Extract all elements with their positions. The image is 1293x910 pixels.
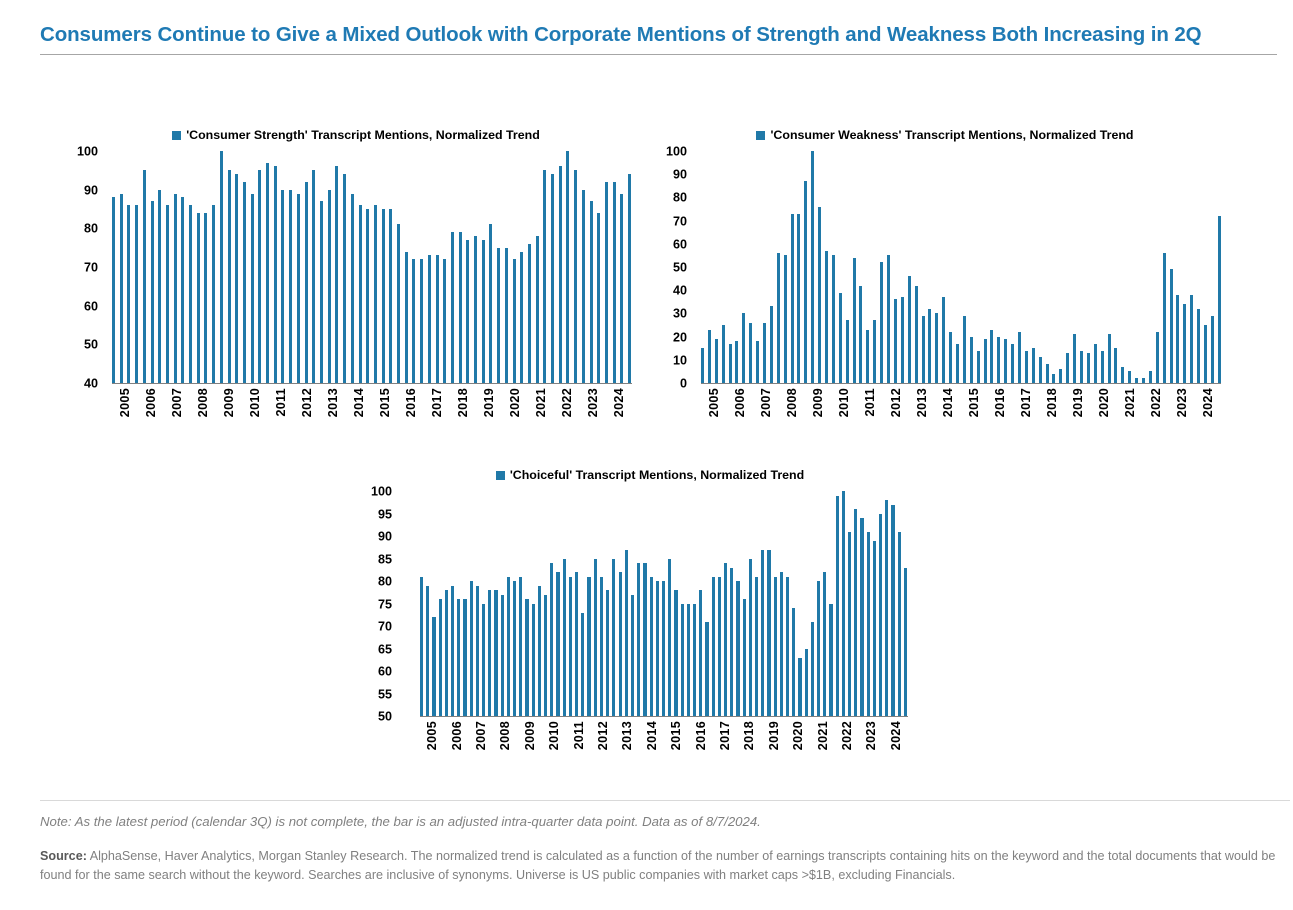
bar — [681, 604, 684, 717]
bar — [1190, 295, 1193, 383]
x-axis-label: 2022 — [1149, 388, 1163, 417]
bar-series — [112, 152, 632, 383]
x-axis-label: 2023 — [864, 721, 878, 750]
y-axis-tick: 80 — [378, 576, 392, 589]
y-axis-tick: 60 — [84, 300, 98, 313]
bar — [1211, 316, 1214, 383]
y-axis-tick: 75 — [378, 598, 392, 611]
bar — [451, 586, 454, 717]
x-axis-label: 2014 — [352, 388, 366, 417]
y-axis-tick: 55 — [378, 688, 392, 701]
bar — [990, 330, 993, 383]
bar — [166, 205, 169, 383]
bar — [600, 577, 603, 717]
bar — [556, 572, 559, 716]
bar — [880, 262, 883, 383]
bar — [482, 604, 485, 717]
footnote-note: Note: As the latest period (calendar 3Q)… — [40, 813, 1290, 831]
bar — [650, 577, 653, 717]
bar — [412, 259, 415, 383]
bar — [559, 166, 562, 383]
footer: Note: As the latest period (calendar 3Q)… — [40, 800, 1290, 884]
bar — [1039, 357, 1042, 383]
chart-legend: 'Choiceful' Transcript Mentions, Normali… — [360, 468, 940, 482]
x-axis-label: 2018 — [1045, 388, 1059, 417]
bar — [489, 224, 492, 383]
bar — [885, 500, 888, 716]
bar — [297, 194, 300, 383]
source-text: AlphaSense, Haver Analytics, Morgan Stan… — [40, 849, 1275, 881]
bar — [258, 170, 261, 383]
x-axis-label: 2023 — [586, 388, 600, 417]
bar — [536, 236, 539, 383]
y-axis-tick: 50 — [378, 711, 392, 724]
y-axis: 405060708090100 — [66, 152, 102, 384]
bar — [724, 563, 727, 716]
bar — [543, 170, 546, 383]
bar — [120, 194, 123, 383]
x-axis-label: 2015 — [967, 388, 981, 417]
bar — [590, 201, 593, 383]
plot-wrapper: 0102030405060708090100 — [655, 152, 1235, 384]
bar — [797, 214, 800, 383]
y-axis-tick: 100 — [371, 486, 392, 499]
legend-swatch-icon — [496, 471, 505, 480]
bar — [1204, 325, 1207, 383]
y-axis-tick: 0 — [680, 378, 687, 391]
bar — [786, 577, 789, 717]
source-label: Source: — [40, 849, 87, 863]
bar — [513, 259, 516, 383]
bar — [507, 577, 510, 717]
bar — [501, 595, 504, 717]
bar — [143, 170, 146, 383]
bar — [474, 236, 477, 383]
bar — [470, 581, 473, 716]
chart-legend: 'Consumer Strength' Transcript Mentions,… — [66, 128, 646, 142]
bar — [575, 572, 578, 716]
x-axis-label: 2008 — [498, 721, 512, 750]
bar — [842, 491, 845, 716]
y-axis-tick: 90 — [84, 184, 98, 197]
bar — [894, 299, 897, 383]
bar — [854, 509, 857, 716]
x-axis-label: 2023 — [1175, 388, 1189, 417]
bar — [956, 344, 959, 383]
bar — [574, 170, 577, 383]
x-axis-label: 2007 — [474, 721, 488, 750]
bar — [825, 251, 828, 383]
y-axis-tick: 50 — [84, 339, 98, 352]
bar — [566, 151, 569, 383]
bar — [281, 190, 284, 383]
bar — [674, 590, 677, 716]
bar — [1087, 353, 1090, 383]
bar — [656, 581, 659, 716]
bar — [359, 205, 362, 383]
x-axis-label: 2005 — [707, 388, 721, 417]
bar — [1073, 334, 1076, 383]
bar — [767, 550, 770, 717]
bar — [439, 599, 442, 716]
x-axis-label: 2021 — [534, 388, 548, 417]
bar — [436, 255, 439, 383]
bar — [613, 182, 616, 383]
bar — [606, 590, 609, 716]
bar — [904, 568, 907, 717]
bar — [949, 332, 952, 383]
x-axis: 2005200620072008200920102011201220132014… — [112, 384, 632, 438]
bar — [798, 658, 801, 717]
footer-divider — [40, 800, 1290, 801]
x-axis-label: 2012 — [596, 721, 610, 750]
bar — [804, 181, 807, 383]
x-axis-label: 2011 — [572, 721, 586, 750]
y-axis-tick: 65 — [378, 643, 392, 656]
bar — [204, 213, 207, 383]
bar — [742, 313, 745, 383]
bar — [743, 599, 746, 716]
x-axis-label: 2006 — [144, 388, 158, 417]
bar — [1135, 378, 1138, 383]
bar — [569, 577, 572, 717]
bar — [668, 559, 671, 717]
bar-series — [701, 152, 1221, 383]
bar — [305, 182, 308, 383]
bar — [867, 532, 870, 717]
chart-consumer-weakness: 'Consumer Weakness' Transcript Mentions,… — [655, 128, 1235, 438]
bar — [836, 496, 839, 717]
bar — [494, 590, 497, 716]
x-axis-label: 2016 — [694, 721, 708, 750]
bar — [942, 297, 945, 383]
y-axis-tick: 50 — [673, 262, 687, 275]
y-axis-tick: 60 — [378, 666, 392, 679]
bar — [538, 586, 541, 717]
plot-wrapper: 405060708090100 — [66, 152, 646, 384]
bar — [811, 622, 814, 717]
bar — [984, 339, 987, 383]
bar — [482, 240, 485, 383]
x-axis-label: 2010 — [837, 388, 851, 417]
bar — [476, 586, 479, 717]
bar — [1025, 351, 1028, 383]
bar — [866, 330, 869, 383]
bar — [382, 209, 385, 383]
bar — [451, 232, 454, 383]
y-axis-tick: 70 — [84, 262, 98, 275]
bar — [1108, 334, 1111, 383]
bar — [625, 550, 628, 717]
bar — [832, 255, 835, 383]
bar — [1149, 371, 1152, 383]
x-axis-label: 2008 — [196, 388, 210, 417]
bar — [158, 190, 161, 383]
y-axis-tick: 30 — [673, 308, 687, 321]
bar — [817, 581, 820, 716]
bar — [1197, 309, 1200, 383]
bar — [620, 194, 623, 383]
bar — [643, 563, 646, 716]
x-axis-label: 2024 — [1201, 388, 1215, 417]
page-title: Consumers Continue to Give a Mixed Outlo… — [40, 22, 1280, 48]
x-axis: 2005200620072008200920102011201220132014… — [701, 384, 1221, 438]
x-axis-label: 2021 — [1123, 388, 1137, 417]
bar — [1218, 216, 1221, 383]
x-axis-label: 2021 — [816, 721, 830, 750]
bar — [374, 205, 377, 383]
y-axis: 0102030405060708090100 — [655, 152, 691, 384]
y-axis: 50556065707580859095100 — [360, 492, 396, 717]
bar — [443, 259, 446, 383]
bar — [1170, 269, 1173, 383]
legend-label: 'Consumer Strength' Transcript Mentions,… — [186, 128, 540, 142]
plot-area — [112, 152, 632, 384]
bar — [859, 286, 862, 383]
bar — [823, 572, 826, 716]
x-axis-label: 2015 — [669, 721, 683, 750]
bar — [701, 348, 704, 383]
bar — [749, 323, 752, 383]
bar — [544, 595, 547, 717]
x-axis-label: 2024 — [612, 388, 626, 417]
x-axis-label: 2018 — [456, 388, 470, 417]
bar — [243, 182, 246, 383]
bar — [525, 599, 528, 716]
bar — [1176, 295, 1179, 383]
bar — [1101, 351, 1104, 383]
bar — [445, 590, 448, 716]
bar — [712, 577, 715, 717]
bar — [901, 297, 904, 383]
bar — [805, 649, 808, 717]
bar — [197, 213, 200, 383]
x-axis-label: 2019 — [1071, 388, 1085, 417]
bar — [774, 577, 777, 717]
x-axis-label: 2014 — [645, 721, 659, 750]
y-axis-tick: 85 — [378, 553, 392, 566]
y-axis-tick: 20 — [673, 331, 687, 344]
x-axis-label: 2014 — [941, 388, 955, 417]
y-axis-tick: 100 — [77, 146, 98, 159]
chart-consumer-strength: 'Consumer Strength' Transcript Mentions,… — [66, 128, 646, 438]
bar — [977, 351, 980, 383]
title-divider — [40, 54, 1277, 55]
bar — [735, 341, 738, 383]
bar — [343, 174, 346, 383]
bar — [791, 214, 794, 383]
bar — [520, 252, 523, 383]
bar — [777, 253, 780, 383]
bar — [312, 170, 315, 383]
bar — [730, 568, 733, 717]
bar — [189, 205, 192, 383]
bar — [619, 572, 622, 716]
x-axis-label: 2005 — [425, 721, 439, 750]
x-axis-label: 2008 — [785, 388, 799, 417]
x-axis-label: 2016 — [404, 388, 418, 417]
x-axis-label: 2020 — [508, 388, 522, 417]
bar — [513, 581, 516, 716]
bar — [135, 205, 138, 383]
y-axis-tick: 100 — [666, 146, 687, 159]
chart-legend: 'Consumer Weakness' Transcript Mentions,… — [655, 128, 1235, 142]
bar — [397, 224, 400, 383]
bar — [749, 559, 752, 717]
bar — [829, 604, 832, 717]
bar — [389, 209, 392, 383]
bar — [898, 532, 901, 717]
bar — [997, 337, 1000, 383]
bar — [432, 617, 435, 716]
x-axis-label: 2009 — [222, 388, 236, 417]
bar — [846, 320, 849, 383]
bar — [587, 577, 590, 717]
bar — [605, 182, 608, 383]
bar — [1059, 369, 1062, 383]
bar — [528, 244, 531, 383]
bar — [428, 255, 431, 383]
x-axis-label: 2016 — [993, 388, 1007, 417]
bar — [1183, 304, 1186, 383]
x-axis-label: 2011 — [274, 388, 288, 417]
legend-swatch-icon — [172, 131, 181, 140]
bar — [1052, 374, 1055, 383]
legend-label: 'Consumer Weakness' Transcript Mentions,… — [770, 128, 1133, 142]
x-axis-label: 2010 — [248, 388, 262, 417]
x-axis-label: 2013 — [326, 388, 340, 417]
bar — [274, 166, 277, 383]
x-axis-label: 2010 — [547, 721, 561, 750]
bar — [212, 205, 215, 383]
bar — [1018, 332, 1021, 383]
bar — [551, 174, 554, 383]
x-axis-label: 2018 — [742, 721, 756, 750]
y-axis-tick: 70 — [673, 215, 687, 228]
x-axis-label: 2009 — [811, 388, 825, 417]
bar — [1032, 348, 1035, 383]
bar — [1004, 339, 1007, 383]
bar — [718, 577, 721, 717]
bar — [127, 205, 130, 383]
bar — [637, 563, 640, 716]
bar — [780, 572, 783, 716]
bar — [699, 590, 702, 716]
x-axis-label: 2020 — [791, 721, 805, 750]
x-axis: 2005200620072008200920102011201220132014… — [420, 717, 908, 771]
bar — [220, 151, 223, 383]
x-axis-label: 2022 — [840, 721, 854, 750]
bar — [708, 330, 711, 383]
y-axis-tick: 60 — [673, 239, 687, 252]
bar — [715, 339, 718, 383]
bar — [891, 505, 894, 717]
bar — [887, 255, 890, 383]
bar — [420, 259, 423, 383]
x-axis-label: 2017 — [718, 721, 732, 750]
bar — [853, 258, 856, 383]
bar — [935, 313, 938, 383]
bar — [463, 599, 466, 716]
bar — [729, 344, 732, 383]
bar — [112, 197, 115, 383]
bar — [420, 577, 423, 717]
bar — [1121, 367, 1124, 383]
bar — [1128, 371, 1131, 383]
header: Consumers Continue to Give a Mixed Outlo… — [40, 22, 1280, 55]
bar — [784, 255, 787, 383]
bar — [532, 604, 535, 717]
legend-swatch-icon — [756, 131, 765, 140]
bar — [792, 608, 795, 716]
bar — [1094, 344, 1097, 383]
bar — [928, 309, 931, 383]
x-axis-label: 2007 — [759, 388, 773, 417]
plot-area — [420, 492, 908, 717]
bar — [756, 341, 759, 383]
x-axis-label: 2006 — [450, 721, 464, 750]
bar — [563, 559, 566, 717]
bar — [351, 194, 354, 383]
x-axis-label: 2005 — [118, 388, 132, 417]
bar — [1114, 348, 1117, 383]
bar — [597, 213, 600, 383]
x-axis-label: 2017 — [1019, 388, 1033, 417]
bar — [497, 248, 500, 383]
x-axis-label: 2012 — [889, 388, 903, 417]
bar — [550, 563, 553, 716]
bar — [770, 306, 773, 383]
bar — [818, 207, 821, 383]
y-axis-tick: 70 — [378, 621, 392, 634]
x-axis-label: 2015 — [378, 388, 392, 417]
bar — [1080, 351, 1083, 383]
bar — [848, 532, 851, 717]
bar — [612, 559, 615, 717]
bar — [873, 541, 876, 717]
x-axis-label: 2019 — [482, 388, 496, 417]
y-axis-tick: 90 — [378, 531, 392, 544]
bar — [722, 325, 725, 383]
y-axis-tick: 95 — [378, 508, 392, 521]
bar — [266, 163, 269, 383]
x-axis-label: 2017 — [430, 388, 444, 417]
bar — [922, 316, 925, 383]
bar — [366, 209, 369, 383]
bar — [335, 166, 338, 383]
plot-area — [701, 152, 1221, 384]
bar — [693, 604, 696, 717]
x-axis-label: 2006 — [733, 388, 747, 417]
x-axis-label: 2019 — [767, 721, 781, 750]
bar — [174, 194, 177, 383]
bar — [915, 286, 918, 383]
y-axis-tick: 10 — [673, 355, 687, 368]
bar — [581, 613, 584, 717]
bar — [426, 586, 429, 717]
bar — [405, 252, 408, 383]
bar — [631, 595, 634, 717]
bar — [466, 240, 469, 383]
bar — [763, 323, 766, 383]
bar — [736, 581, 739, 716]
bar — [289, 190, 292, 383]
bar — [328, 190, 331, 383]
bar — [662, 581, 665, 716]
bar — [1156, 332, 1159, 383]
bar — [755, 577, 758, 717]
bar — [320, 201, 323, 383]
